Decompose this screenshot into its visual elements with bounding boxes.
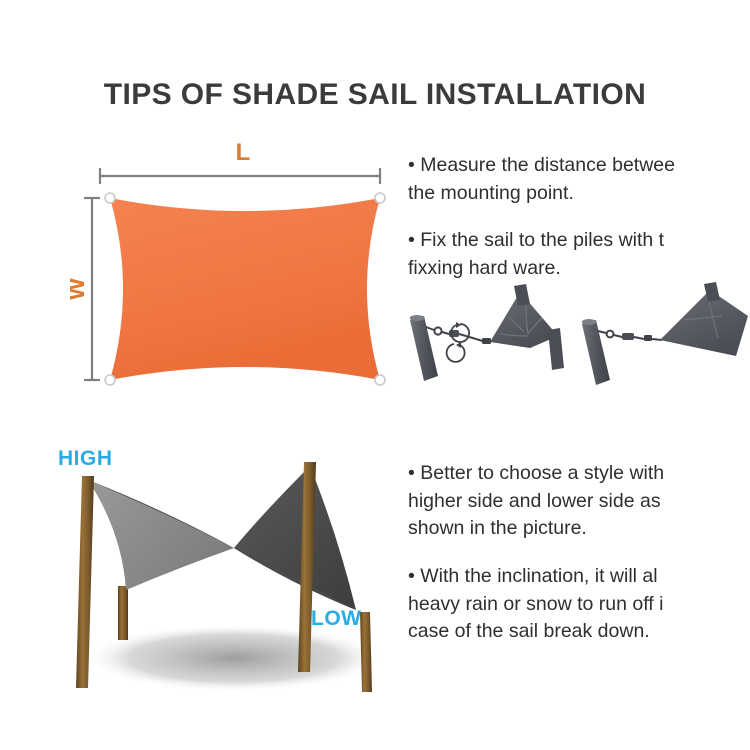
mounting-hardware-diagram [404, 282, 750, 394]
tip-choose-style-text-1: Better to choose a style with [420, 462, 664, 484]
tip-inclination-line-2: heavy rain or snow to run off i [408, 591, 750, 619]
sail-light-gray [88, 480, 234, 590]
tip-choose-style-line-1: • Better to choose a style with [408, 460, 750, 488]
hardware-assembly-right [582, 282, 748, 385]
hardware-sail-corner-right [660, 290, 748, 356]
tip-measure-line-1: • Measure the distance betwee [408, 152, 750, 180]
tip-inclination-text-1: With the inclination, it will al [420, 565, 657, 587]
mounting-hardware-svg [404, 282, 750, 394]
width-label: W [70, 277, 90, 300]
low-label: LOW [311, 607, 361, 631]
canopy-scene-diagram [38, 440, 420, 708]
tip-choose-style-line-2: higher side and lower side as [408, 488, 750, 516]
tip-fix-sail-line-2: fixxing hard ware. [408, 255, 750, 283]
tip-choose-style-line-3: shown in the picture. [408, 515, 750, 543]
tip-fix-sail-text-1: Fix the sail to the piles with t [420, 229, 664, 251]
rectangular-sail-diagram: L W [70, 142, 410, 400]
post-rear-left [118, 586, 128, 640]
bullet-icon: • [408, 154, 415, 176]
length-label: L [236, 142, 251, 166]
hardware-turnbuckle-left [426, 322, 486, 362]
tip-inclination-line-3: case of the sail break down. [408, 618, 750, 646]
hardware-pole-right [582, 319, 610, 385]
tips-bottom-block: • Better to choose a style with higher s… [408, 460, 750, 646]
bullet-icon: • [408, 462, 415, 484]
tip-measure-line-2: the mounting point. [408, 180, 750, 208]
hardware-assembly-left [410, 284, 564, 381]
bullet-icon: • [408, 229, 415, 251]
tip-choose-style: • Better to choose a style with higher s… [408, 460, 750, 543]
page-title: TIPS OF SHADE SAIL INSTALLATION [0, 78, 750, 112]
infographic-page: TIPS OF SHADE SAIL INSTALLATION [0, 0, 750, 750]
tip-measure-text-1: Measure the distance betwee [420, 154, 675, 176]
tip-fix-sail-line-1: • Fix the sail to the piles with t [408, 227, 750, 255]
length-dimension-line [100, 168, 380, 184]
hardware-pole-left [410, 315, 438, 381]
hardware-connector-left [482, 338, 491, 344]
rectangular-sail-svg: L W [70, 142, 410, 400]
post-far-right [360, 612, 372, 692]
hardware-turnbuckle-right [598, 331, 662, 341]
bullet-icon: • [408, 565, 415, 587]
high-label: HIGH [58, 447, 113, 471]
tip-inclination: • With the inclination, it will al heavy… [408, 563, 750, 646]
hardware-post-right-left [548, 328, 564, 370]
sail-body [110, 198, 380, 380]
tip-fix-sail: • Fix the sail to the piles with t fixxi… [408, 227, 750, 282]
tip-inclination-line-1: • With the inclination, it will al [408, 563, 750, 591]
tips-top-block: • Measure the distance betwee the mounti… [408, 152, 750, 283]
tip-measure: • Measure the distance betwee the mounti… [408, 152, 750, 207]
ground-shadow [84, 624, 384, 692]
canopy-scene-svg [38, 440, 420, 708]
